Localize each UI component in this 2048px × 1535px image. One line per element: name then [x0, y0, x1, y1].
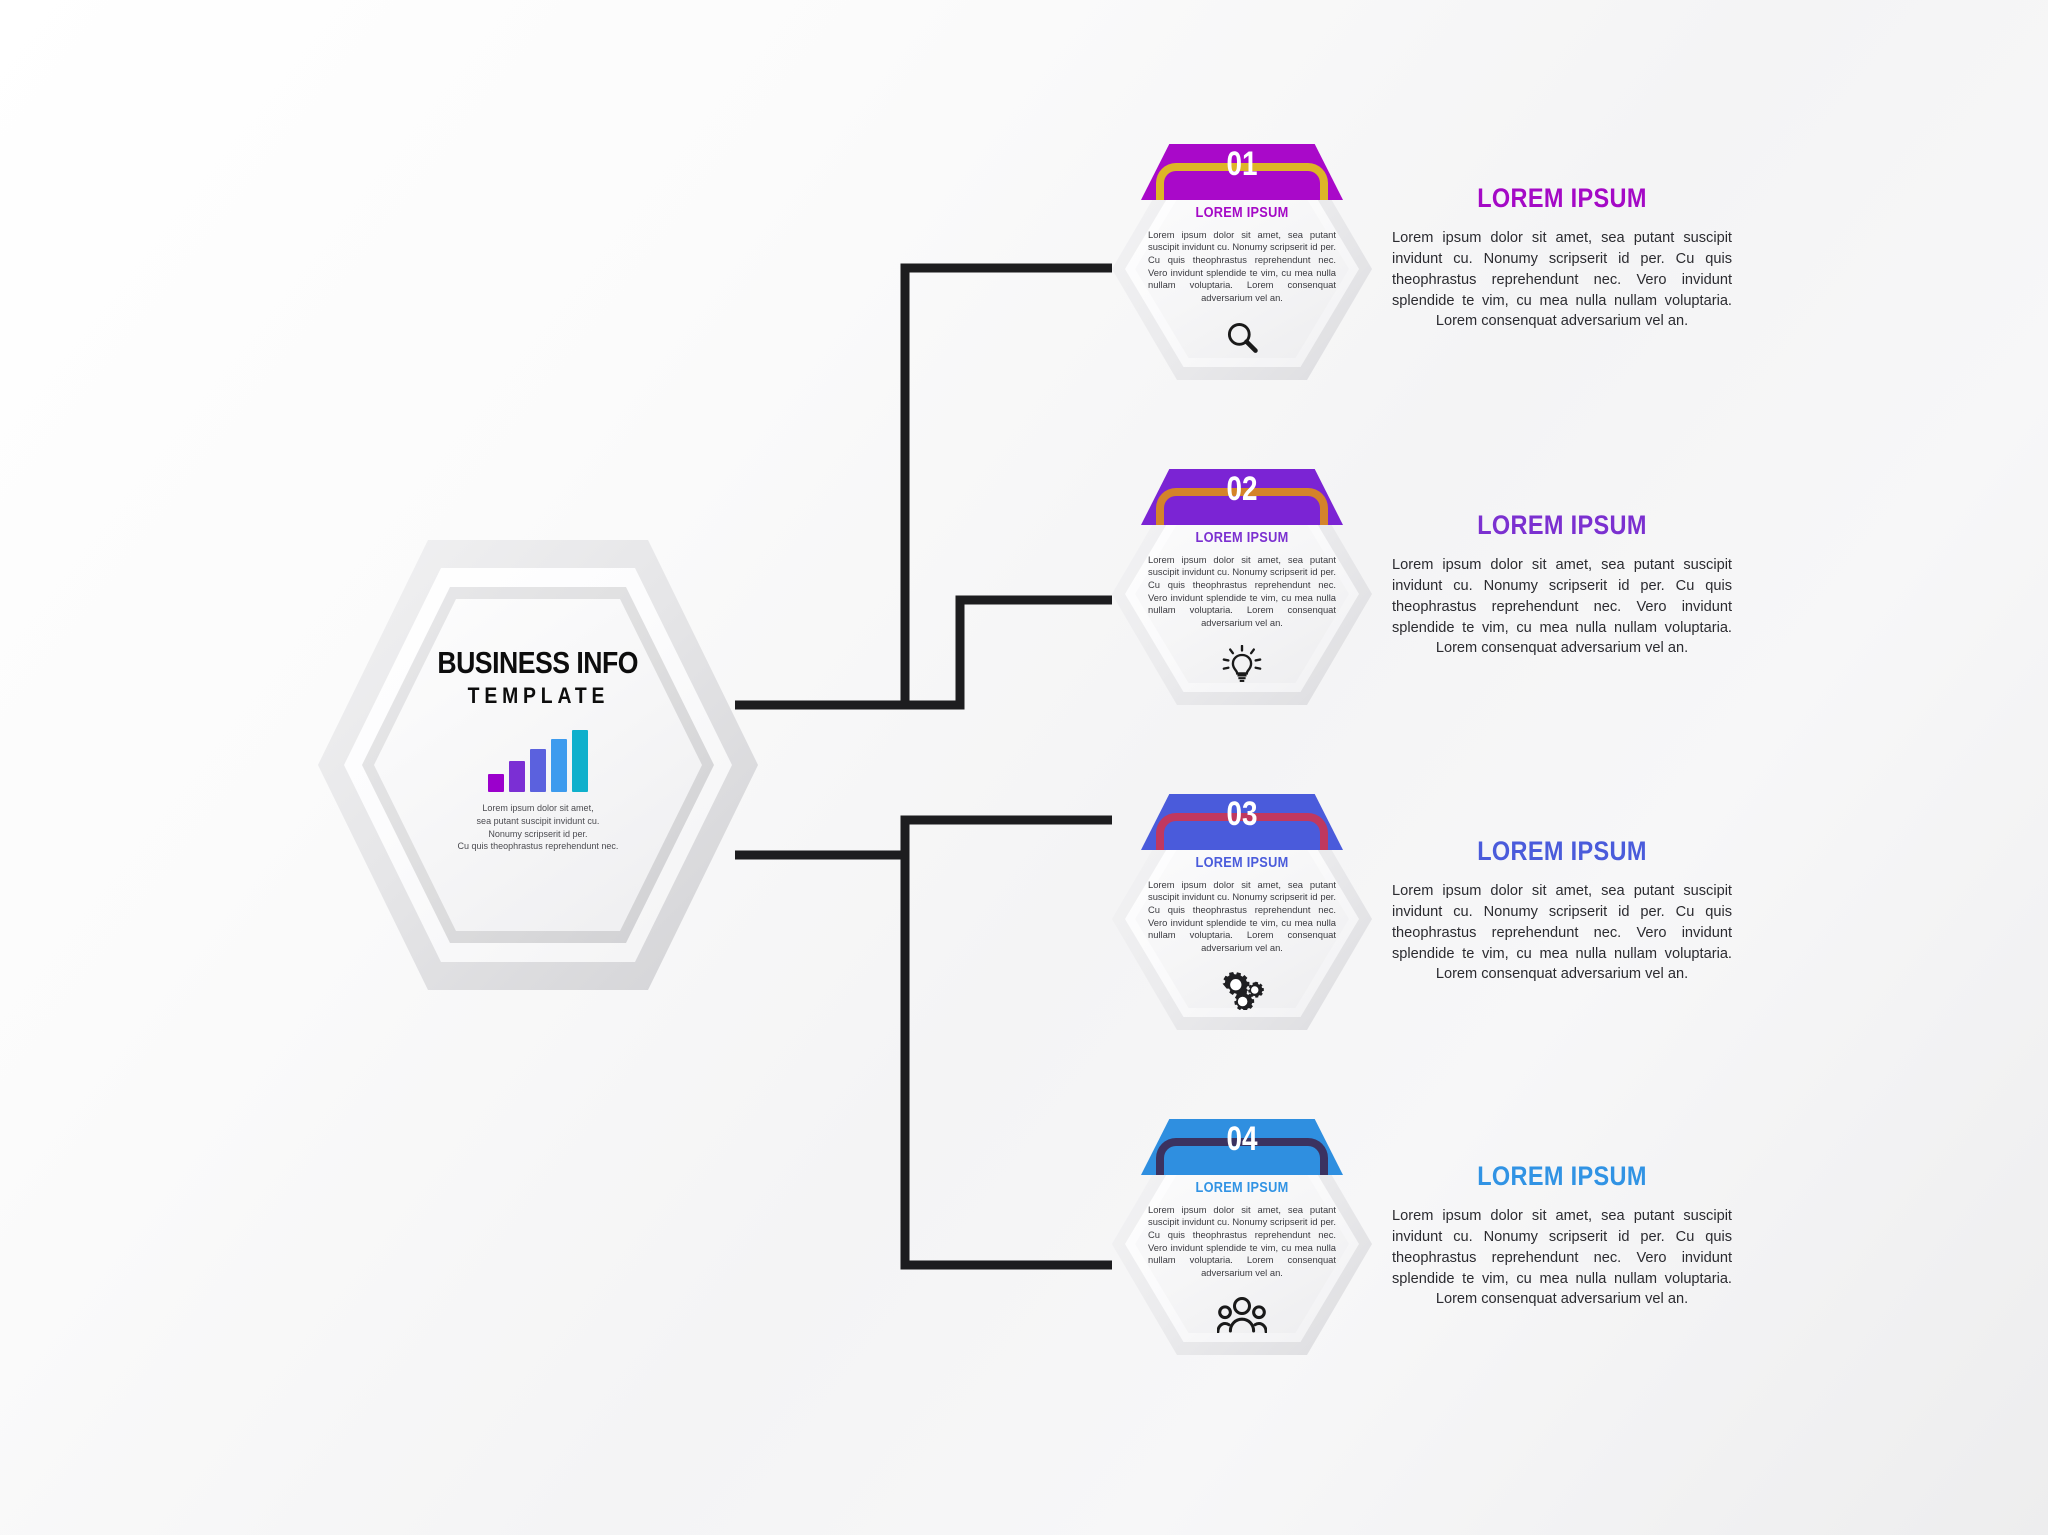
step-card-04[interactable]: 04LOREM IPSUMLorem ipsum dolor sit amet,… [1112, 1105, 1372, 1355]
card-heading-04: LOREM IPSUM [1148, 1181, 1336, 1196]
card-paragraph-02: Lorem ipsum dolor sit amet, sea putant s… [1135, 554, 1349, 630]
center-hex-content: BUSINESS INFO TEMPLATE Lorem ipsum dolor… [374, 599, 702, 931]
step-card-03[interactable]: 03LOREM IPSUMLorem ipsum dolor sit amet,… [1112, 780, 1372, 1030]
card-body-02: LOREM IPSUMLorem ipsum dolor sit amet, s… [1135, 531, 1349, 630]
center-bar-2 [509, 761, 525, 792]
magnifier-icon [1112, 320, 1372, 356]
step-description-03: LOREM IPSUMLorem ipsum dolor sit amet, s… [1392, 838, 1732, 985]
gears-icon [1112, 970, 1372, 1010]
card-paragraph-01: Lorem ipsum dolor sit amet, sea putant s… [1135, 229, 1349, 305]
card-heading-02: LOREM IPSUM [1148, 531, 1336, 546]
card-header-band-03: 03 [1141, 794, 1343, 850]
center-note-line-3: Nonumy scripserit id per. [458, 828, 619, 841]
center-bar-5 [572, 730, 588, 792]
center-note-line-4: Cu quis theophrastus reprehendunt nec. [458, 840, 619, 853]
desc-title-03: LOREM IPSUM [1414, 838, 1710, 865]
connector-lines [0, 0, 2048, 1535]
step-number-01: 01 [1159, 147, 1325, 181]
center-note-line-1: Lorem ipsum dolor sit amet, [458, 802, 619, 815]
step-description-02: LOREM IPSUMLorem ipsum dolor sit amet, s… [1392, 512, 1732, 659]
card-paragraph-04: Lorem ipsum dolor sit amet, sea putant s… [1135, 1204, 1349, 1280]
card-header-band-01: 01 [1141, 144, 1343, 200]
step-number-02: 02 [1159, 472, 1325, 506]
card-paragraph-03: Lorem ipsum dolor sit amet, sea putant s… [1135, 879, 1349, 955]
desc-title-02: LOREM IPSUM [1414, 512, 1710, 539]
step-description-01: LOREM IPSUMLorem ipsum dolor sit amet, s… [1392, 185, 1732, 332]
step-number-04: 04 [1159, 1122, 1325, 1156]
center-note-line-2: sea putant suscipit invidunt cu. [458, 815, 619, 828]
desc-title-01: LOREM IPSUM [1414, 185, 1710, 212]
step-number-03: 03 [1159, 797, 1325, 831]
center-subtitle: TEMPLATE [467, 685, 609, 707]
connector-to-step-03 [735, 820, 1112, 855]
card-header-band-04: 04 [1141, 1119, 1343, 1175]
center-bar-4 [551, 739, 567, 792]
card-body-03: LOREM IPSUMLorem ipsum dolor sit amet, s… [1135, 856, 1349, 955]
card-header-band-02: 02 [1141, 469, 1343, 525]
desc-body-04: Lorem ipsum dolor sit amet, sea putant s… [1392, 1206, 1732, 1310]
card-body-01: LOREM IPSUMLorem ipsum dolor sit amet, s… [1135, 206, 1349, 305]
people-group-icon [1112, 1295, 1372, 1333]
infographic-canvas: BUSINESS INFO TEMPLATE Lorem ipsum dolor… [0, 0, 2048, 1535]
center-title: BUSINESS INFO [438, 647, 639, 678]
step-description-04: LOREM IPSUMLorem ipsum dolor sit amet, s… [1392, 1163, 1732, 1310]
desc-title-04: LOREM IPSUM [1414, 1163, 1710, 1190]
center-bar-3 [530, 749, 546, 792]
lightbulb-icon [1112, 645, 1372, 685]
desc-body-01: Lorem ipsum dolor sit amet, sea putant s… [1392, 228, 1732, 332]
connector-to-step-02 [735, 600, 1112, 705]
center-bar-chart [488, 730, 588, 792]
center-note: Lorem ipsum dolor sit amet,sea putant su… [458, 802, 619, 853]
desc-body-03: Lorem ipsum dolor sit amet, sea putant s… [1392, 881, 1732, 985]
card-body-04: LOREM IPSUMLorem ipsum dolor sit amet, s… [1135, 1181, 1349, 1280]
card-heading-01: LOREM IPSUM [1148, 206, 1336, 221]
center-bar-1 [488, 774, 504, 792]
card-heading-03: LOREM IPSUM [1148, 856, 1336, 871]
desc-body-02: Lorem ipsum dolor sit amet, sea putant s… [1392, 555, 1732, 659]
connector-to-step-01 [735, 268, 1112, 705]
connector-to-step-04 [735, 855, 1112, 1265]
step-card-01[interactable]: 01LOREM IPSUMLorem ipsum dolor sit amet,… [1112, 130, 1372, 380]
step-card-02[interactable]: 02LOREM IPSUMLorem ipsum dolor sit amet,… [1112, 455, 1372, 705]
center-hexagon: BUSINESS INFO TEMPLATE Lorem ipsum dolor… [318, 540, 758, 990]
